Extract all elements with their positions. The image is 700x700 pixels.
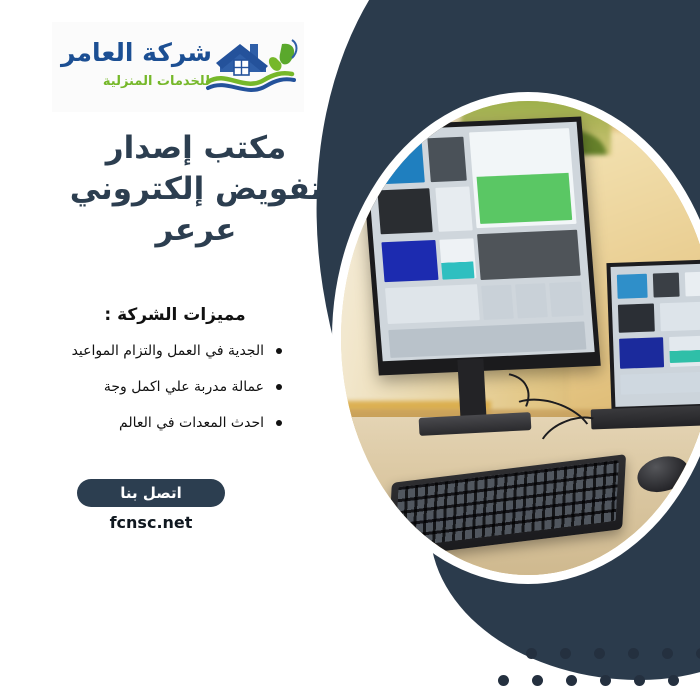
logo-company-name: شركة العامر	[61, 38, 212, 67]
dot-icon	[498, 675, 509, 686]
dot-icon	[560, 648, 571, 659]
logo-tagline: للخدمات المنزلية	[103, 74, 210, 89]
dot-icon	[566, 675, 577, 686]
feature-label: الجدية في العمل والتزام المواعيد	[72, 343, 264, 359]
dot-grid-decoration	[498, 648, 700, 686]
feature-label: احدث المعدات في العالم	[119, 415, 264, 431]
title-line-3: عرعر	[46, 210, 346, 251]
dot-row	[498, 675, 700, 686]
poster-canvas: شركة العامر للخدمات المنزلية مكتب إصدار …	[0, 0, 700, 700]
features-heading: مميزات الشركة :	[44, 305, 306, 325]
photo-monitor	[359, 117, 601, 376]
dot-icon	[594, 648, 605, 659]
bullet-icon	[276, 348, 282, 354]
dot-icon	[526, 648, 537, 659]
bullet-icon	[276, 420, 282, 426]
feature-label: عمالة مدربة علي اكمل وجة	[104, 379, 264, 395]
photo-monitor-display	[365, 122, 595, 362]
contact-us-button[interactable]: اتصل بنا	[77, 479, 225, 507]
page-title: مكتب إصدار تفويض إلكتروني عرعر	[46, 128, 346, 251]
dot-icon	[696, 648, 700, 659]
photo-laptop-screen	[606, 259, 700, 413]
dot-icon	[662, 648, 673, 659]
dot-icon	[600, 675, 611, 686]
list-item: الجدية في العمل والتزام المواعيد	[44, 343, 306, 359]
title-line-2: تفويض إلكتروني	[46, 169, 346, 210]
house-with-leaf-icon	[206, 32, 302, 102]
bullet-icon	[276, 384, 282, 390]
logo-inner: شركة العامر للخدمات المنزلية	[52, 30, 298, 104]
dot-icon	[628, 648, 639, 659]
dot-icon	[634, 675, 645, 686]
office-photo	[341, 101, 700, 575]
photo-laptop-display	[611, 263, 700, 407]
photo-laptop-base	[591, 405, 700, 430]
dot-row	[526, 648, 700, 659]
dot-icon	[668, 675, 679, 686]
dot-icon	[532, 675, 543, 686]
list-item: عمالة مدربة علي اكمل وجة	[44, 379, 306, 395]
list-item: احدث المعدات في العالم	[44, 415, 306, 431]
title-line-1: مكتب إصدار	[46, 128, 346, 169]
website-url[interactable]: fcnsc.net	[77, 513, 225, 532]
features-section: مميزات الشركة : الجدية في العمل والتزام …	[44, 305, 306, 451]
company-logo[interactable]: شركة العامر للخدمات المنزلية	[52, 22, 304, 112]
